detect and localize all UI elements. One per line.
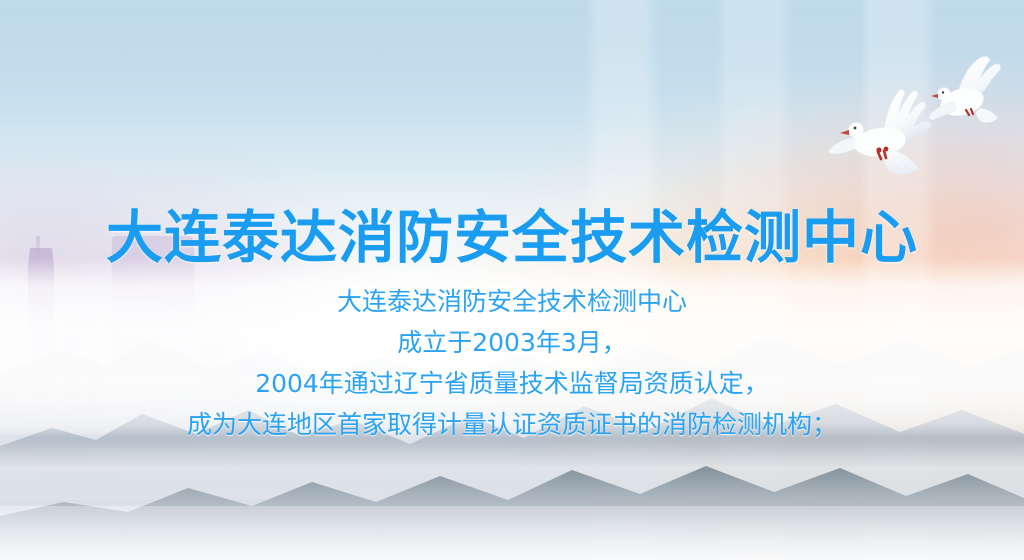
description-line: 成为大连地区首家取得计量认证资质证书的消防检测机构； — [0, 404, 1024, 445]
page-title: 大连泰达消防安全技术检测中心 — [0, 206, 1024, 270]
banner-content: 大连泰达消防安全技术检测中心 大连泰达消防安全技术检测中心 成立于2003年3月… — [0, 0, 1024, 560]
hero-banner: 大连泰达消防安全技术检测中心 大连泰达消防安全技术检测中心 成立于2003年3月… — [0, 0, 1024, 560]
description-line: 成立于2003年3月， — [0, 322, 1024, 363]
description-line: 2004年通过辽宁省质量技术监督局资质认定， — [0, 363, 1024, 404]
description-block: 大连泰达消防安全技术检测中心 成立于2003年3月， 2004年通过辽宁省质量技… — [0, 281, 1024, 445]
description-line: 大连泰达消防安全技术检测中心 — [0, 281, 1024, 322]
